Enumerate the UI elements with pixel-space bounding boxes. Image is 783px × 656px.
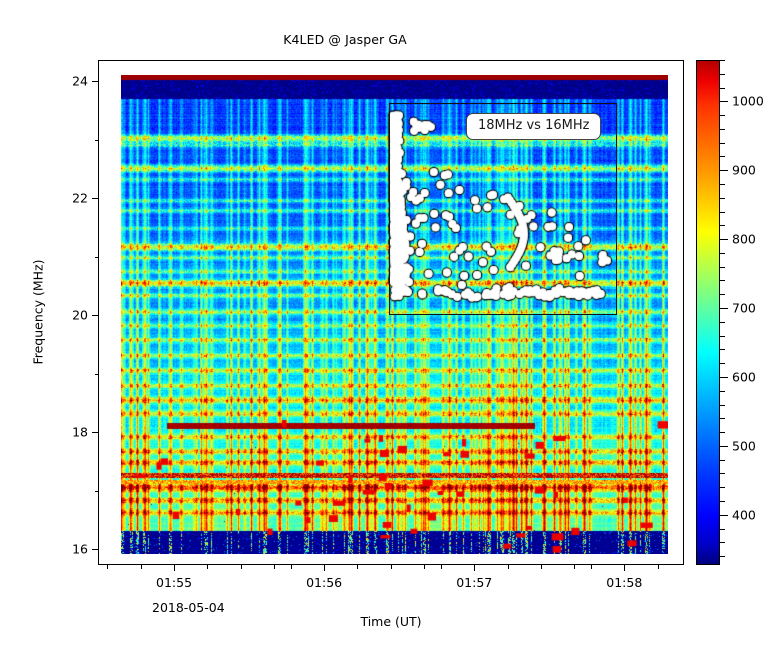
x-axis-minor-tick [424, 564, 425, 569]
x-axis-tick [624, 564, 625, 571]
x-axis-minor-tick [658, 564, 659, 569]
y-axis-tick [92, 432, 99, 433]
colorbar-tick [720, 515, 728, 516]
x-axis-tick [474, 564, 475, 571]
x-axis-tick [324, 564, 325, 571]
colorbar-tick-label: 500 [732, 438, 756, 453]
x-axis-minor-tick [508, 564, 509, 569]
colorbar-minor-tick [720, 501, 725, 502]
colorbar-tick [720, 308, 728, 309]
colorbar-minor-tick [720, 129, 725, 130]
colorbar-minor-tick [720, 542, 725, 543]
y-axis-tick-label: 22 [72, 191, 88, 206]
colorbar-tick-label: 900 [732, 163, 756, 178]
y-axis-tick-label: 24 [72, 74, 88, 89]
y-axis-tick [92, 315, 99, 316]
x-axis-minor-tick [241, 564, 242, 569]
colorbar-minor-tick [720, 267, 725, 268]
colorbar-minor-tick [720, 184, 725, 185]
colorbar-tick [720, 446, 728, 447]
x-axis-minor-tick [591, 564, 592, 569]
colorbar-minor-tick [720, 280, 725, 281]
colorbar-minor-tick [720, 432, 725, 433]
y-axis-tick-label: 18 [72, 425, 88, 440]
scatter-overlay-canvas [121, 75, 668, 554]
colorbar-tick-label: 800 [732, 232, 756, 247]
colorbar-minor-tick [720, 253, 725, 254]
x-axis-minor-tick [107, 564, 108, 569]
x-axis-tick-label: 01:55 [156, 575, 192, 590]
figure-canvas: K4LED @ Jasper GA Frequency (MHz) Time (… [0, 0, 783, 656]
y-axis-label: Frequency (MHz) [31, 259, 46, 364]
colorbar-minor-tick [720, 60, 725, 61]
colorbar-tick [720, 170, 728, 171]
colorbar-minor-tick [720, 556, 725, 557]
x-axis-tick-label: 01:58 [606, 575, 642, 590]
x-axis-tick-label: 01:56 [306, 575, 342, 590]
colorbar-minor-tick [720, 529, 725, 530]
x-axis-tick [174, 564, 175, 571]
colorbar-tick-label: 700 [732, 301, 756, 316]
colorbar-minor-tick [720, 294, 725, 295]
x-axis-minor-tick [274, 564, 275, 569]
x-axis-minor-tick [441, 564, 442, 569]
y-axis-minor-tick [95, 257, 100, 258]
colorbar-minor-tick [720, 460, 725, 461]
colorbar-tick-label: 1000 [732, 94, 764, 109]
colorbar: 4005006007008009001000 [696, 60, 720, 565]
y-axis-tick [92, 198, 99, 199]
colorbar-tick [720, 377, 728, 378]
colorbar-minor-tick [720, 336, 725, 337]
y-axis-tick [92, 549, 99, 550]
colorbar-minor-tick [720, 198, 725, 199]
y-axis-tick-label: 20 [72, 308, 88, 323]
colorbar-minor-tick [720, 225, 725, 226]
colorbar-minor-tick [720, 405, 725, 406]
colorbar-minor-tick [720, 473, 725, 474]
colorbar-tick [720, 239, 728, 240]
y-axis-tick-label: 16 [72, 542, 88, 557]
colorbar-minor-tick [720, 143, 725, 144]
colorbar-minor-tick [720, 74, 725, 75]
x-axis-date-label: 2018-05-04 [152, 600, 225, 615]
x-axis-minor-tick [291, 564, 292, 569]
x-axis-minor-tick [141, 564, 142, 569]
x-axis-minor-tick [357, 564, 358, 569]
colorbar-minor-tick [720, 322, 725, 323]
colorbar-minor-tick [720, 391, 725, 392]
x-axis-minor-tick [391, 564, 392, 569]
colorbar-minor-tick [720, 88, 725, 89]
colorbar-minor-tick [720, 349, 725, 350]
page-title: K4LED @ Jasper GA [0, 32, 690, 47]
x-axis-label: Time (UT) [360, 614, 421, 629]
colorbar-tick-label: 400 [732, 507, 756, 522]
colorbar-minor-tick [720, 363, 725, 364]
colorbar-tick [720, 101, 728, 102]
colorbar-minor-tick [720, 212, 725, 213]
x-axis-minor-tick [207, 564, 208, 569]
y-axis-minor-tick [95, 491, 100, 492]
colorbar-tick-label: 600 [732, 369, 756, 384]
colorbar-minor-tick [720, 418, 725, 419]
y-axis-tick [92, 81, 99, 82]
colorbar-minor-tick [720, 156, 725, 157]
x-axis-tick-label: 01:57 [456, 575, 492, 590]
y-axis-minor-tick [95, 140, 100, 141]
spectrogram-image [121, 75, 668, 554]
colorbar-gradient [696, 60, 720, 565]
y-axis-minor-tick [95, 374, 100, 375]
colorbar-minor-tick [720, 115, 725, 116]
x-axis-minor-tick [574, 564, 575, 569]
annotation-label: 18MHz vs 16MHz [466, 113, 601, 140]
x-axis-minor-tick [541, 564, 542, 569]
colorbar-minor-tick [720, 487, 725, 488]
